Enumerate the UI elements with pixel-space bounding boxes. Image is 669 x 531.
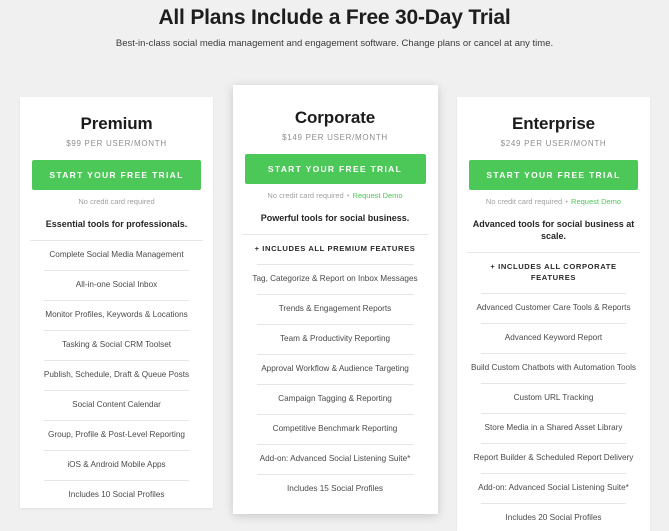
list-item: Tag, Categorize & Report on Inbox Messag… xyxy=(243,265,428,284)
list-item: Includes 15 Social Profiles xyxy=(243,475,428,494)
start-free-trial-button[interactable]: START YOUR FREE TRIAL xyxy=(32,160,201,190)
list-item: Group, Profile & Post-Level Reporting xyxy=(30,421,203,440)
start-free-trial-button[interactable]: START YOUR FREE TRIAL xyxy=(469,160,638,190)
plan-price: $249 PER USER/MONTH xyxy=(467,138,640,149)
no-credit-card-text: No credit card required xyxy=(486,197,562,206)
request-demo-link[interactable]: Request Demo xyxy=(571,197,621,206)
no-credit-card-text: No credit card required xyxy=(78,197,154,206)
list-item: Monitor Profiles, Keywords & Locations xyxy=(30,301,203,320)
list-item: Complete Social Media Management xyxy=(30,241,203,260)
list-item: iOS & Android Mobile Apps xyxy=(30,451,203,470)
feature-list: Complete Social Media Management All-in-… xyxy=(30,241,203,500)
feature-list: + INCLUDES ALL PREMIUM FEATURES Tag, Cat… xyxy=(243,235,428,494)
plan-price: $149 PER USER/MONTH xyxy=(243,132,428,143)
note-separator: • xyxy=(347,191,350,200)
plan-name: Premium xyxy=(30,113,203,135)
plan-name: Corporate xyxy=(243,107,428,129)
cta-note: No credit card required • Request Demo xyxy=(467,197,640,207)
plan-name: Enterprise xyxy=(467,113,640,135)
list-item-heading: + INCLUDES ALL PREMIUM FEATURES xyxy=(243,235,428,254)
note-separator: • xyxy=(565,197,568,206)
list-item: Social Content Calendar xyxy=(30,391,203,410)
page-title: All Plans Include a Free 30-Day Trial xyxy=(0,4,669,32)
plan-tagline: Advanced tools for social business at sc… xyxy=(467,218,640,242)
list-item: Competitive Benchmark Reporting xyxy=(243,415,428,434)
list-item: Trends & Engagement Reports xyxy=(243,295,428,314)
list-item: Tasking & Social CRM Toolset xyxy=(30,331,203,350)
pricing-plans-row: Premium $99 PER USER/MONTH START YOUR FR… xyxy=(20,85,650,531)
plan-card-premium[interactable]: Premium $99 PER USER/MONTH START YOUR FR… xyxy=(20,97,213,508)
page-header: All Plans Include a Free 30-Day Trial Be… xyxy=(0,0,669,50)
list-item: Approval Workflow & Audience Targeting xyxy=(243,355,428,374)
start-free-trial-button[interactable]: START YOUR FREE TRIAL xyxy=(245,154,426,184)
list-item: Custom URL Tracking xyxy=(467,384,640,403)
list-item: Store Media in a Shared Asset Library xyxy=(467,414,640,433)
plan-card-corporate[interactable]: Corporate $149 PER USER/MONTH START YOUR… xyxy=(233,85,438,514)
list-item: Report Builder & Scheduled Report Delive… xyxy=(467,444,640,463)
list-item: Campaign Tagging & Reporting xyxy=(243,385,428,404)
cta-note: No credit card required xyxy=(30,197,203,207)
plan-price: $99 PER USER/MONTH xyxy=(30,138,203,149)
list-item: Advanced Customer Care Tools & Reports xyxy=(467,294,640,313)
plan-card-enterprise[interactable]: Enterprise $249 PER USER/MONTH START YOU… xyxy=(457,97,650,531)
page-subtitle: Best-in-class social media management an… xyxy=(0,38,669,50)
no-credit-card-text: No credit card required xyxy=(267,191,343,200)
plan-tagline: Essential tools for professionals. xyxy=(30,218,203,230)
list-item: Add-on: Advanced Social Listening Suite* xyxy=(467,474,640,493)
list-item: All-in-one Social Inbox xyxy=(30,271,203,290)
list-item: Publish, Schedule, Draft & Queue Posts xyxy=(30,361,203,380)
request-demo-link[interactable]: Request Demo xyxy=(353,191,403,200)
list-item: Includes 20 Social Profiles xyxy=(467,504,640,523)
list-item: Build Custom Chatbots with Automation To… xyxy=(467,354,640,373)
cta-note: No credit card required • Request Demo xyxy=(243,191,428,201)
list-item: Team & Productivity Reporting xyxy=(243,325,428,344)
list-item: Advanced Keyword Report xyxy=(467,324,640,343)
list-item: Includes 10 Social Profiles xyxy=(30,481,203,500)
list-item-heading: + INCLUDES ALL CORPORATE FEATURES xyxy=(467,253,640,283)
feature-list: + INCLUDES ALL CORPORATE FEATURES Advanc… xyxy=(467,253,640,523)
plan-tagline: Powerful tools for social business. xyxy=(243,212,428,224)
